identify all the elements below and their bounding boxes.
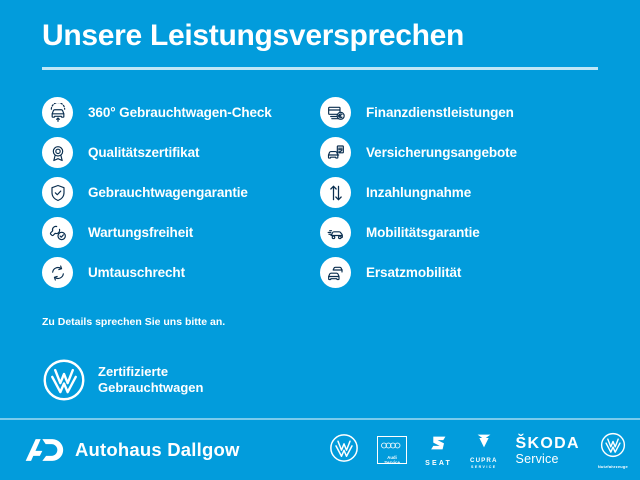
vw-logo-icon — [329, 433, 359, 468]
brand-logo-audi-service[interactable]: Audi Service — [377, 430, 407, 470]
brand-logo-seat[interactable]: SEAT — [425, 430, 452, 470]
certified-line-2: Gebrauchtwagen — [98, 380, 203, 396]
benefit-item[interactable]: Wartungsfreiheit — [42, 217, 320, 248]
footer: Autohaus Dallgow — [0, 420, 640, 480]
benefit-label: Finanzdienstleistungen — [366, 105, 514, 120]
benefits-grid: 360° Gebrauchtwagen-Check Qualitätszerti… — [42, 97, 598, 288]
wrench-gear-check-icon — [42, 217, 73, 248]
benefits-left-column: 360° Gebrauchtwagen-Check Qualitätszerti… — [42, 97, 320, 288]
benefit-label: Mobilitätsgarantie — [366, 225, 480, 240]
shield-check-icon — [42, 177, 73, 208]
dealer-name: Autohaus Dallgow — [75, 439, 240, 461]
skoda-service-word: Service — [516, 452, 559, 466]
car-check-360-icon — [42, 97, 73, 128]
certified-line-1: Zertifizierte — [98, 364, 203, 380]
audi-service-wordmark: Audi Service — [384, 455, 400, 465]
benefit-label: Gebrauchtwagengarantie — [88, 185, 248, 200]
benefit-label: Ersatzmobilität — [366, 265, 461, 280]
promo-panel: Unsere Leistungsversprechen 360° Gebrauc… — [0, 0, 640, 480]
seat-wordmark: SEAT — [425, 460, 452, 467]
benefit-label: Inzahlungnahme — [366, 185, 471, 200]
cupra-logo-icon — [475, 432, 493, 455]
benefit-item[interactable]: Mobilitätsgarantie — [320, 217, 598, 248]
seat-s-icon — [429, 433, 449, 458]
autohaus-dallgow-monogram-icon — [24, 437, 64, 463]
two-cars-icon — [320, 257, 351, 288]
benefit-item[interactable]: Ersatzmobilität — [320, 257, 598, 288]
car-document-check-icon — [320, 137, 351, 168]
cupra-wordmark: CUPRA — [470, 457, 498, 464]
vw-logo-icon — [600, 432, 626, 463]
dealer-branding[interactable]: Autohaus Dallgow — [24, 437, 240, 463]
benefit-label: Qualitätszertifikat — [88, 145, 199, 160]
audi-rings-icon — [381, 436, 403, 454]
benefit-label: 360° Gebrauchtwagen-Check — [88, 105, 272, 120]
benefit-label: Versicherungsangebote — [366, 145, 517, 160]
benefit-item[interactable]: Versicherungsangebote — [320, 137, 598, 168]
title-divider — [42, 67, 598, 70]
cupra-service-word: SERVICE — [471, 465, 497, 469]
brand-logo-cupra-service[interactable]: CUPRA SERVICE — [470, 430, 498, 470]
exchange-arrows-icon — [42, 257, 73, 288]
award-rosette-icon — [42, 137, 73, 168]
page-title: Unsere Leistungsversprechen — [42, 18, 598, 54]
brand-logos: Audi Service SEAT — [329, 430, 628, 470]
service-word: Service — [384, 460, 400, 465]
benefit-item[interactable]: Umtauschrecht — [42, 257, 320, 288]
benefit-item[interactable]: 360° Gebrauchtwagen-Check — [42, 97, 320, 128]
vw-logo-icon — [42, 358, 86, 402]
benefit-label: Wartungsfreiheit — [88, 225, 193, 240]
benefit-item[interactable]: Qualitätszertifikat — [42, 137, 320, 168]
certified-text: Zertifizierte Gebrauchtwagen — [98, 364, 203, 396]
benefit-item[interactable]: Finanzdienstleistungen — [320, 97, 598, 128]
header: Unsere Leistungsversprechen — [42, 18, 598, 70]
benefits-right-column: Finanzdienstleistungen Versicherungsange… — [320, 97, 598, 288]
benefit-item[interactable]: Gebrauchtwagengarantie — [42, 177, 320, 208]
certified-used-cars-block: Zertifizierte Gebrauchtwagen — [42, 358, 203, 402]
benefit-item[interactable]: Inzahlungnahme — [320, 177, 598, 208]
skoda-wordmark-icon: ŠKODA — [516, 435, 580, 452]
details-note: Zu Details sprechen Sie uns bitte an. — [42, 316, 225, 328]
up-down-arrows-icon — [320, 177, 351, 208]
benefit-label: Umtauschrecht — [88, 265, 185, 280]
brand-logo-skoda-service[interactable]: ŠKODA Service — [516, 430, 580, 470]
banknotes-euro-icon — [320, 97, 351, 128]
vw-nutzfahrzeuge-word: Nutzfahrzeuge — [598, 464, 628, 469]
brand-logo-vw-nutzfahrzeuge[interactable]: Nutzfahrzeuge — [598, 430, 628, 470]
car-motion-icon — [320, 217, 351, 248]
brand-logo-vw[interactable] — [329, 430, 359, 470]
